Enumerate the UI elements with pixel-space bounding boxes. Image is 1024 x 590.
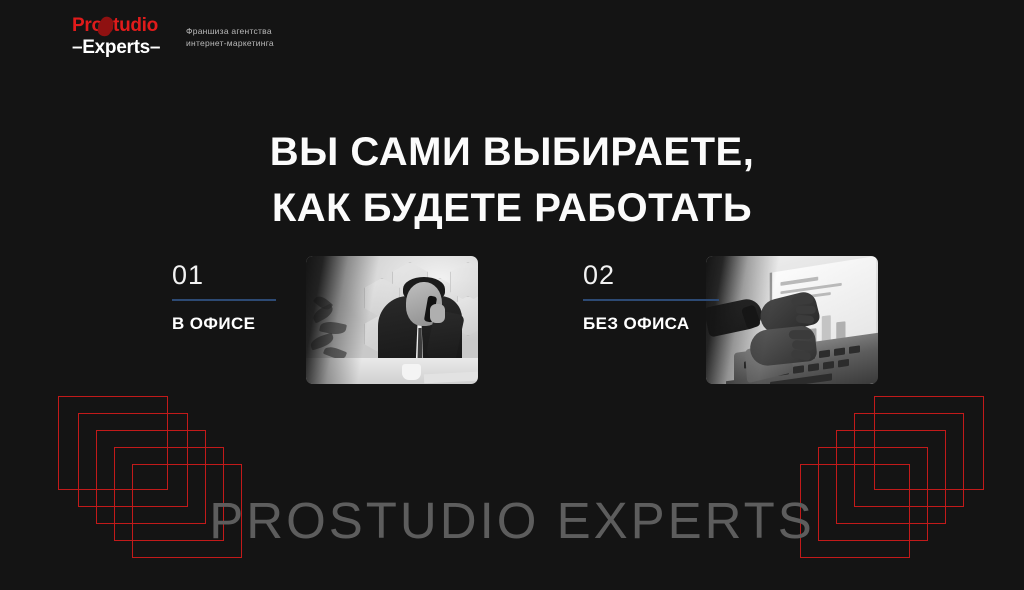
slide-headline: ВЫ САМИ ВЫБИРАЕТЕ, КАК БУДЕТЕ РАБОТАТЬ bbox=[0, 124, 1024, 236]
card-number: 02 bbox=[583, 260, 719, 290]
photo-fade-overlay bbox=[306, 256, 478, 384]
logo-mark: Prostudio –Experts– bbox=[72, 16, 172, 58]
presentation-slide: Prostudio –Experts– Франшиза агентства и… bbox=[0, 0, 1024, 590]
card-photo-in-office bbox=[306, 256, 478, 384]
card-divider-rule bbox=[172, 299, 276, 301]
headline-line-2: КАК БУДЕТЕ РАБОТАТЬ bbox=[0, 180, 1024, 236]
card-label: БЕЗ ОФИСА bbox=[583, 314, 719, 334]
card-text-block: 02 БЕЗ ОФИСА bbox=[583, 260, 719, 334]
logo-word-prostudio: Prostudio bbox=[72, 16, 172, 36]
logo-word-experts: –Experts– bbox=[72, 37, 172, 58]
option-card-in-office[interactable]: 01 В ОФИСЕ bbox=[172, 256, 478, 384]
card-label: В ОФИСЕ bbox=[172, 314, 276, 334]
logo-tagline: Франшиза агентства интернет-маркетинга bbox=[186, 25, 274, 49]
card-divider-rule bbox=[583, 299, 719, 301]
card-photo-remote bbox=[706, 256, 878, 384]
card-number: 01 bbox=[172, 260, 276, 290]
brand-logo[interactable]: Prostudio –Experts– Франшиза агентства и… bbox=[72, 16, 274, 58]
card-text-block: 01 В ОФИСЕ bbox=[172, 260, 276, 334]
brand-watermark: PROSTUDIO EXPERTS bbox=[0, 493, 1024, 549]
headline-line-1: ВЫ САМИ ВЫБИРАЕТЕ, bbox=[0, 124, 1024, 180]
option-card-remote[interactable]: 02 БЕЗ ОФИСА bbox=[583, 256, 889, 384]
photo-fade-overlay bbox=[706, 256, 878, 384]
